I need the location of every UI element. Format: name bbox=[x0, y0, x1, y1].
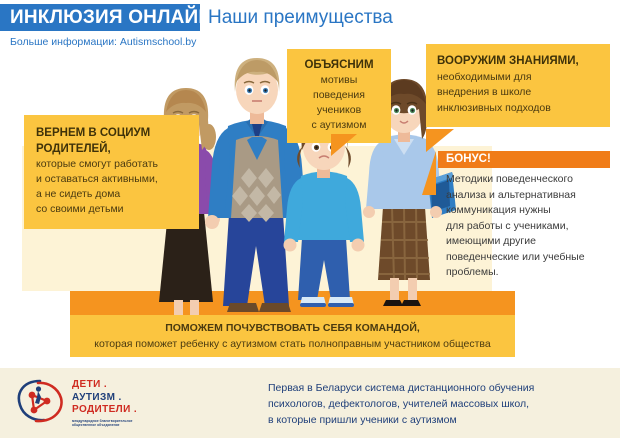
callout-arm-tail bbox=[426, 129, 454, 152]
callout-parents-headline-1: ВЕРНЕМ В СОЦИУМ bbox=[36, 126, 189, 142]
footer-description-line-3: в которые пришли ученики с аутизмом bbox=[268, 412, 613, 428]
page-title: Наши преимущества bbox=[208, 7, 393, 29]
callout-arm-line-2: внедрения в школе bbox=[437, 85, 602, 101]
logo-line-2: АУТИЗМ . bbox=[72, 392, 137, 405]
callout-bonus-line-2: анализа и альтернативная bbox=[446, 188, 610, 204]
organization-logo-icon bbox=[14, 377, 66, 425]
callout-bonus-body: Методики поведенческого анализа и альтер… bbox=[438, 169, 614, 285]
footer-description-line-1: Первая в Беларуси система дистанционного… bbox=[268, 380, 613, 396]
callout-arm-with-knowledge: ВООРУЖИМ ЗНАНИЯМИ, необходимыми для внед… bbox=[426, 44, 610, 127]
callout-bonus-line-7: проблемы. bbox=[446, 265, 610, 281]
infographic-canvas: ИНКЛЮЗИЯ ОНЛАЙН Наши преимущества Больше… bbox=[0, 0, 620, 438]
logo-line-1: ДЕТИ . bbox=[72, 379, 137, 392]
callout-parents-line-3: а не сидеть дома bbox=[36, 187, 189, 202]
callout-arm-headline: ВООРУЖИМ ЗНАНИЯМИ, bbox=[437, 54, 602, 70]
organization-logo-text: ДЕТИ . АУТИЗМ . РОДИТЕЛИ . bbox=[72, 379, 137, 417]
callout-parents-line-4: со своими детьми bbox=[36, 202, 189, 217]
footer-description: Первая в Беларуси система дистанционного… bbox=[268, 380, 613, 428]
more-info-link[interactable]: Больше информации: Autismschool.by bbox=[10, 36, 196, 48]
logo-line-3: РОДИТЕЛИ . bbox=[72, 404, 137, 417]
callout-bonus-line-4: для работы с учениками, bbox=[446, 219, 610, 235]
callout-bonus-headline: БОНУС! bbox=[446, 153, 491, 165]
callout-parents-line-1: которые смогут работать bbox=[36, 157, 189, 172]
ground-strip bbox=[70, 291, 515, 315]
callout-bonus-header: БОНУС! bbox=[438, 151, 610, 168]
callout-arm-line-1: необходимыми для bbox=[437, 70, 602, 86]
callout-explain-headline: ОБЪЯСНИМ bbox=[293, 58, 385, 73]
team-banner-line-1: ПОМОЖЕМ ПОЧУВСТВОВАТЬ СЕБЯ КОМАНДОЙ, bbox=[70, 322, 515, 334]
team-banner-line-2: которая поможет ребенку с аутизмом стать… bbox=[70, 338, 515, 350]
callout-parents-headline-2: РОДИТЕЛЕЙ, bbox=[36, 142, 189, 158]
callout-bonus-line-1: Методики поведенческого bbox=[446, 172, 610, 188]
callout-parents: ВЕРНЕМ В СОЦИУМ РОДИТЕЛЕЙ, которые смогу… bbox=[24, 115, 199, 229]
callout-explain-line-4: с аутизмом bbox=[293, 118, 385, 133]
callout-bonus-line-6: поведенческие или учебные bbox=[446, 250, 610, 266]
callout-bonus-line-3: коммуникация нужны bbox=[446, 203, 610, 219]
callout-parents-line-2: и оставаться активными, bbox=[36, 172, 189, 187]
brand-title: ИНКЛЮЗИЯ ОНЛАЙН bbox=[10, 7, 212, 29]
callout-explain-line-1: мотивы bbox=[293, 73, 385, 88]
callout-bonus-line-5: имеющими другие bbox=[446, 234, 610, 250]
footer: ДЕТИ . АУТИЗМ . РОДИТЕЛИ . международное… bbox=[0, 368, 620, 438]
callout-explain: ОБЪЯСНИМ мотивы поведения учеников с аут… bbox=[287, 49, 391, 143]
callout-explain-line-3: учеников bbox=[293, 103, 385, 118]
logo-subtitle: международное благотворительное обществе… bbox=[72, 419, 148, 427]
callout-explain-tail bbox=[331, 134, 357, 156]
callout-arm-line-3: инклюзивных подходов bbox=[437, 101, 602, 117]
footer-description-line-2: психологов, дефектологов, учителей массо… bbox=[268, 396, 613, 412]
callout-explain-line-2: поведения bbox=[293, 88, 385, 103]
team-banner: ПОМОЖЕМ ПОЧУВСТВОВАТЬ СЕБЯ КОМАНДОЙ, кот… bbox=[70, 315, 515, 357]
